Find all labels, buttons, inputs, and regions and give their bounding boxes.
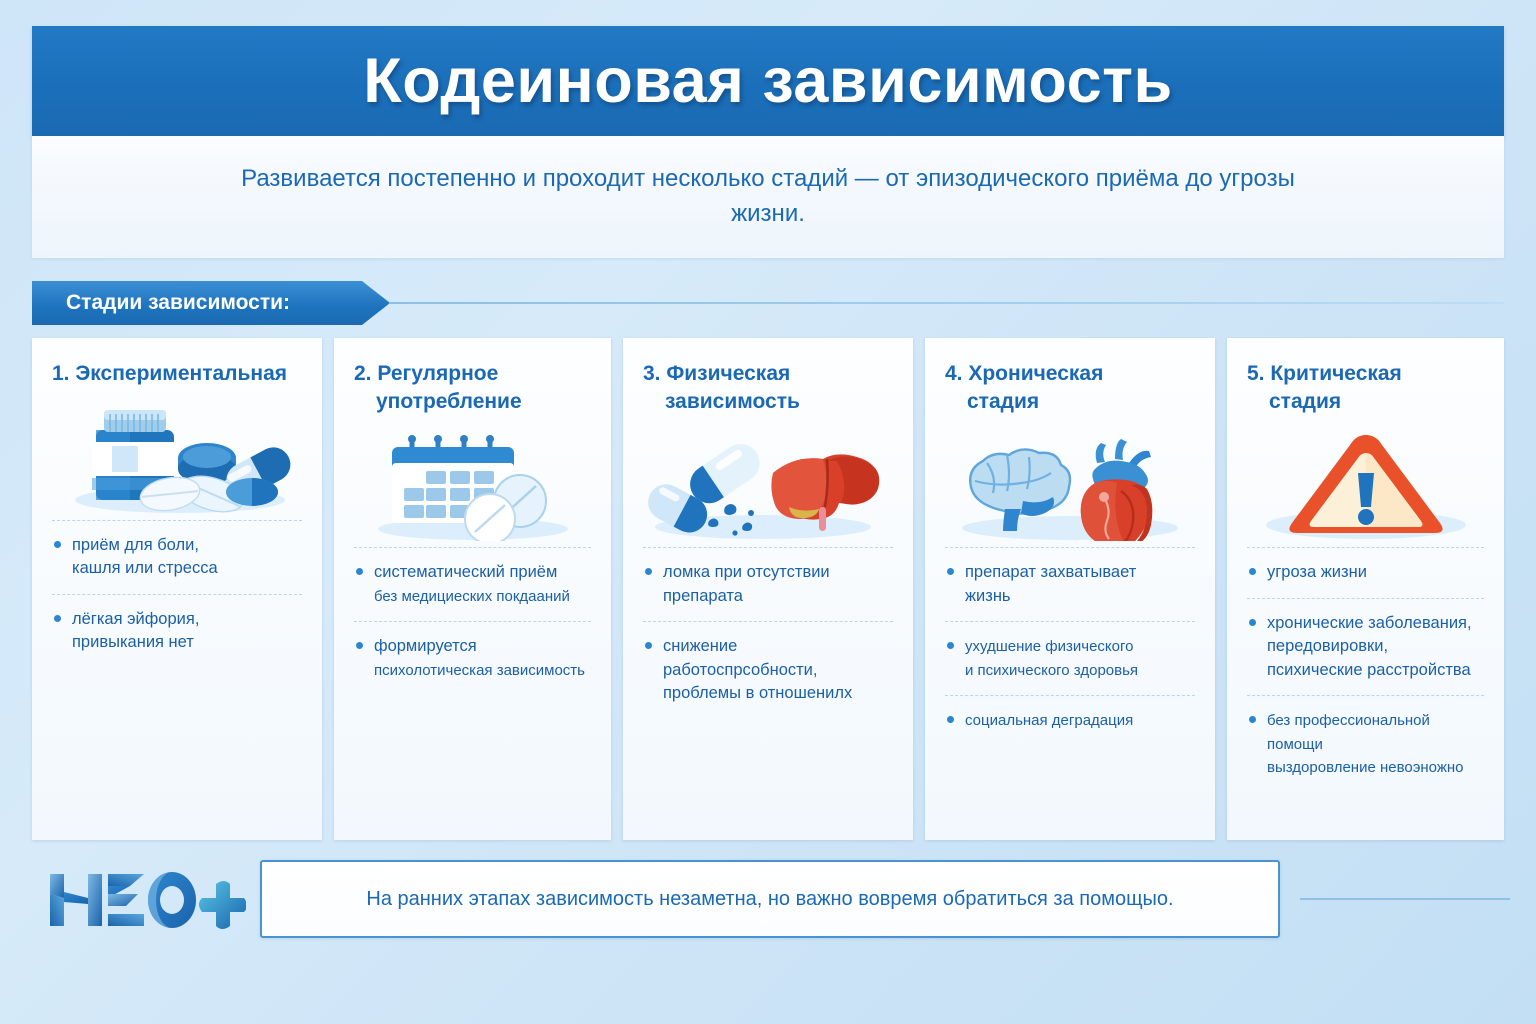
list-item: лёгкая эйфория, привыкания нет <box>52 594 302 668</box>
list-item: препарат захватывает жизнь <box>945 547 1195 621</box>
stage-title-3-line2: зависимость <box>643 388 893 416</box>
subtitle-text: Развивается постепенно и проходит нескол… <box>238 162 1298 232</box>
title-bar: Кодеиновая зависимость <box>32 26 1504 136</box>
stage-bullets-3: ломка при отсутствии препарата снижение … <box>643 547 893 718</box>
stage-title-4: 4. Хроническая стадия <box>945 360 1195 415</box>
bullet-sub: привыкания нет <box>72 633 194 651</box>
footer-note-text: На ранних этапах зависимость незаметна, … <box>346 888 1193 911</box>
stage-bullets-5: угроза жизни хронические заболевания, пе… <box>1247 547 1484 792</box>
calendar-pills-icon <box>354 423 591 541</box>
bullet-dot-icon <box>54 615 61 622</box>
list-item: социальная деградация <box>945 695 1195 745</box>
bullet-main: систематический приём <box>374 563 557 581</box>
section-chevron: Стадии зависимости: <box>32 281 390 325</box>
bullet-sub: работоспрсобности, проблемы в отношенилх <box>663 661 852 702</box>
stage-title-2: 2. Регулярное употребление <box>354 360 591 415</box>
stage-title-2-line1: 2. Регулярное <box>354 362 498 385</box>
section-label: Стадии зависимости: <box>66 291 290 315</box>
capsule-liver-icon <box>643 423 893 541</box>
bullet-dot-icon <box>1249 716 1256 723</box>
bullet-main: лёгкая эйфория, <box>72 610 199 628</box>
bullet-main: хронические заболевания, <box>1267 614 1472 632</box>
list-item: без профессиональной помощи выздоровлени… <box>1247 695 1484 792</box>
bullet-sub: без медициеских покдааний <box>374 588 570 605</box>
bullet-dot-icon <box>356 568 363 575</box>
bullet-dot-icon <box>1249 619 1256 626</box>
stage-title-5-line1: 5. Критическая <box>1247 362 1402 385</box>
stage-card-4: 4. Хроническая стадия <box>925 338 1215 840</box>
bullet-sub: препарата <box>663 587 743 605</box>
infographic-page: Кодеиновая зависимость Развивается посте… <box>0 0 1536 1024</box>
brand-logo <box>46 868 246 932</box>
bullet-main: снижение <box>663 637 737 655</box>
stage-card-1: 1. Экспериментальная <box>32 338 322 840</box>
stage-title-1-line1: 1. Экспериментальная <box>52 362 287 385</box>
stage-bullets-2: систематический приём без медициеских по… <box>354 547 591 695</box>
bullet-dot-icon <box>54 541 61 548</box>
bullet-sub: передовировки, психические расстройства <box>1267 637 1471 678</box>
section-rule <box>390 302 1504 304</box>
bullet-main: социальная деградация <box>965 712 1133 729</box>
stage-bullets-1: приём для боли, кашля или стресса лёгкая… <box>52 520 302 668</box>
bullet-main: ломка при отсутствии <box>663 563 830 581</box>
bullet-main: угроза жизни <box>1267 563 1367 581</box>
stage-title-3: 3. Физическая зависимость <box>643 360 893 415</box>
stage-card-2: 2. Регулярное употребление <box>334 338 611 840</box>
brain-heart-icon <box>945 423 1195 541</box>
stage-title-3-line1: 3. Физическая <box>643 362 790 385</box>
bullet-dot-icon <box>947 716 954 723</box>
bullet-dot-icon <box>645 642 652 649</box>
bullet-dot-icon <box>1249 568 1256 575</box>
stage-title-5-line2: стадия <box>1247 388 1484 416</box>
list-item: угроза жизни <box>1247 547 1484 597</box>
stage-title-1: 1. Экспериментальная <box>52 360 302 388</box>
bullet-sub: кашля или стресса <box>72 559 218 577</box>
stage-title-2-line2: употребление <box>354 388 591 416</box>
bullet-main: без профессиональной помощи <box>1267 712 1430 752</box>
footer-note: На ранних этапах зависимость незаметна, … <box>260 860 1280 938</box>
bullet-main: формируется <box>374 637 477 655</box>
list-item: хронические заболевания, передовировки, … <box>1247 598 1484 695</box>
bullet-dot-icon <box>356 642 363 649</box>
bullet-sub: психолотическая зависимость <box>374 662 585 679</box>
page-title: Кодеиновая зависимость <box>363 45 1172 117</box>
stage-title-4-line1: 4. Хроническая <box>945 362 1103 385</box>
subtitle-band: Развивается постепенно и проходит нескол… <box>32 136 1504 258</box>
footer: На ранних этапах зависимость незаметна, … <box>32 852 1504 956</box>
list-item: систематический приём без медициеских по… <box>354 547 591 621</box>
bullet-dot-icon <box>947 568 954 575</box>
list-item: снижение работоспрсобности, проблемы в о… <box>643 621 893 718</box>
stage-title-4-line2: стадия <box>945 388 1195 416</box>
bullet-main: приём для боли, <box>72 536 199 554</box>
section-header-row: Стадии зависимости: <box>32 281 1504 325</box>
stage-card-5: 5. Критическая стадия угроза жизни <box>1227 338 1504 840</box>
stage-card-3: 3. Физическая зависимость <box>623 338 913 840</box>
bullet-sub: жизнь <box>965 587 1011 605</box>
bullet-main: ухудшение физического <box>965 638 1134 655</box>
stage-cards: 1. Экспериментальная <box>32 338 1504 840</box>
warning-triangle-icon <box>1247 423 1484 541</box>
list-item: приём для боли, кашля или стресса <box>52 520 302 594</box>
bullet-sub: выздоровление невоэножно <box>1267 759 1464 776</box>
list-item: ухудшение физического и психического здо… <box>945 621 1195 695</box>
list-item: ломка при отсутствии препарата <box>643 547 893 621</box>
bullet-main: препарат захватывает <box>965 563 1136 581</box>
bullet-sub: и психического здоровья <box>965 662 1138 679</box>
pill-bottle-icon <box>52 396 302 514</box>
stage-bullets-4: препарат захватывает жизнь ухудшение физ… <box>945 547 1195 745</box>
stage-title-5: 5. Критическая стадия <box>1247 360 1484 415</box>
footer-rule <box>1300 898 1510 900</box>
bullet-dot-icon <box>947 642 954 649</box>
list-item: формируется психолотическая зависимость <box>354 621 591 695</box>
bullet-dot-icon <box>645 568 652 575</box>
